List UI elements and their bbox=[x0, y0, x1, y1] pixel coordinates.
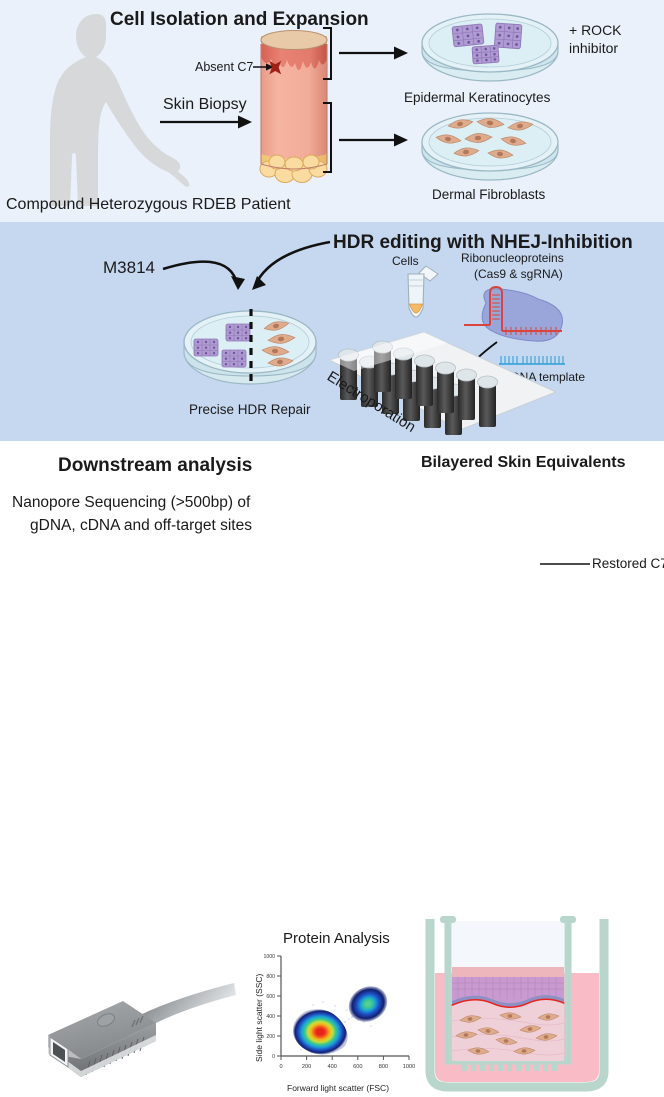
scientific-figure: Cell Isolation and Expansion bbox=[0, 0, 664, 664]
svg-text:600: 600 bbox=[266, 994, 275, 1000]
caption-rdeb-patient: Compound Heterozygous RDEB Patient bbox=[6, 196, 291, 214]
panel-downstream-analysis: Downstream analysis Nanopore Sequencing … bbox=[0, 441, 664, 664]
svg-text:400: 400 bbox=[328, 1064, 337, 1070]
chart-ylabel: Side light scatter (SSC) bbox=[254, 974, 264, 1062]
skin-biopsy-arrow bbox=[0, 0, 664, 222]
transwell-skin-equivalent-icon bbox=[418, 911, 633, 1096]
svg-text:200: 200 bbox=[302, 1064, 311, 1070]
panel-hdr-editing: HDR editing with NHEJ-Inhibition M3814 bbox=[0, 222, 664, 441]
population-2-density bbox=[342, 979, 394, 1028]
label-rock-inhibitor-line2: inhibitor bbox=[569, 40, 618, 56]
svg-text:600: 600 bbox=[353, 1064, 362, 1070]
svg-text:0: 0 bbox=[279, 1064, 282, 1070]
petri-dish-keratinocytes-icon bbox=[418, 9, 563, 89]
svg-text:1000: 1000 bbox=[263, 954, 275, 960]
svg-text:200: 200 bbox=[266, 1034, 275, 1040]
chart-xlabel: Forward light scatter (FSC) bbox=[287, 1083, 389, 1093]
label-rock-inhibitor-line1: + ROCK bbox=[569, 22, 622, 38]
petri-dish-fibroblasts-icon bbox=[418, 108, 563, 188]
svg-text:800: 800 bbox=[379, 1064, 388, 1070]
svg-text:400: 400 bbox=[266, 1014, 275, 1020]
panel-cell-isolation: Cell Isolation and Expansion bbox=[0, 0, 664, 222]
chart-title: Protein Analysis bbox=[283, 930, 390, 947]
label-restored-c7: Restored C7 bbox=[592, 556, 664, 571]
svg-text:800: 800 bbox=[266, 974, 275, 980]
restored-c7-leader bbox=[0, 441, 664, 664]
label-dermal-fibroblasts: Dermal Fibroblasts bbox=[432, 187, 545, 202]
svg-text:1000: 1000 bbox=[403, 1064, 415, 1070]
nanopore-sequencer-icon bbox=[28, 979, 238, 1097]
chart-canvas: 1000 800 600 400 200 0 0 bbox=[243, 950, 418, 1085]
population-1-density bbox=[293, 1009, 348, 1054]
label-epidermal-keratinocytes: Epidermal Keratinocytes bbox=[404, 90, 550, 105]
svg-text:0: 0 bbox=[272, 1054, 275, 1060]
